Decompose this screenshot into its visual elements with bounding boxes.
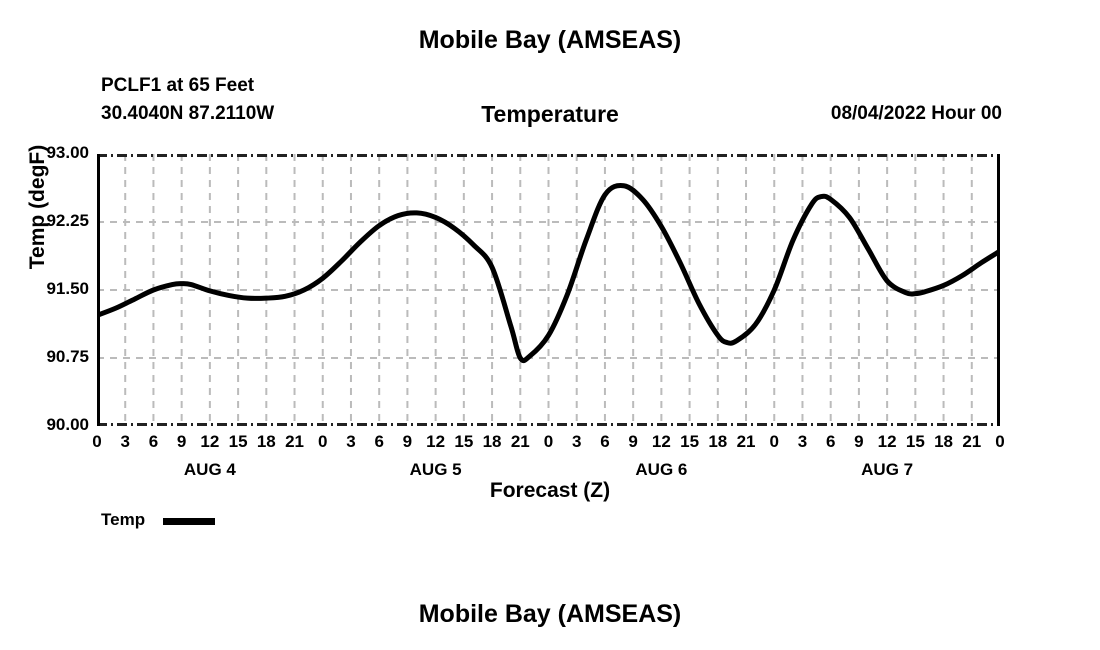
y-tick-label: 91.50	[9, 279, 89, 299]
x-tick-label: 0	[980, 432, 1020, 452]
y-tick-label: 90.75	[9, 347, 89, 367]
y-tick-label: 92.25	[9, 211, 89, 231]
day-label: AUG 6	[601, 460, 721, 480]
day-label: AUG 5	[376, 460, 496, 480]
model-run-timestamp: 08/04/2022 Hour 00	[831, 103, 1002, 125]
temperature-line-chart	[97, 154, 1000, 426]
y-tick-label: 93.00	[9, 143, 89, 163]
page-title: Mobile Bay (AMSEAS)	[0, 26, 1100, 55]
footer-title: Mobile Bay (AMSEAS)	[0, 600, 1100, 629]
legend-label-temp: Temp	[101, 510, 145, 530]
day-label: AUG 7	[827, 460, 947, 480]
y-axis-label: Temp (degF)	[26, 107, 50, 307]
x-axis-label: Forecast (Z)	[0, 479, 1100, 503]
station-name-depth: PCLF1 at 65 Feet	[101, 75, 254, 97]
chart-plot-area	[97, 154, 1000, 426]
day-label: AUG 4	[150, 460, 270, 480]
legend-swatch-temp	[163, 518, 215, 525]
